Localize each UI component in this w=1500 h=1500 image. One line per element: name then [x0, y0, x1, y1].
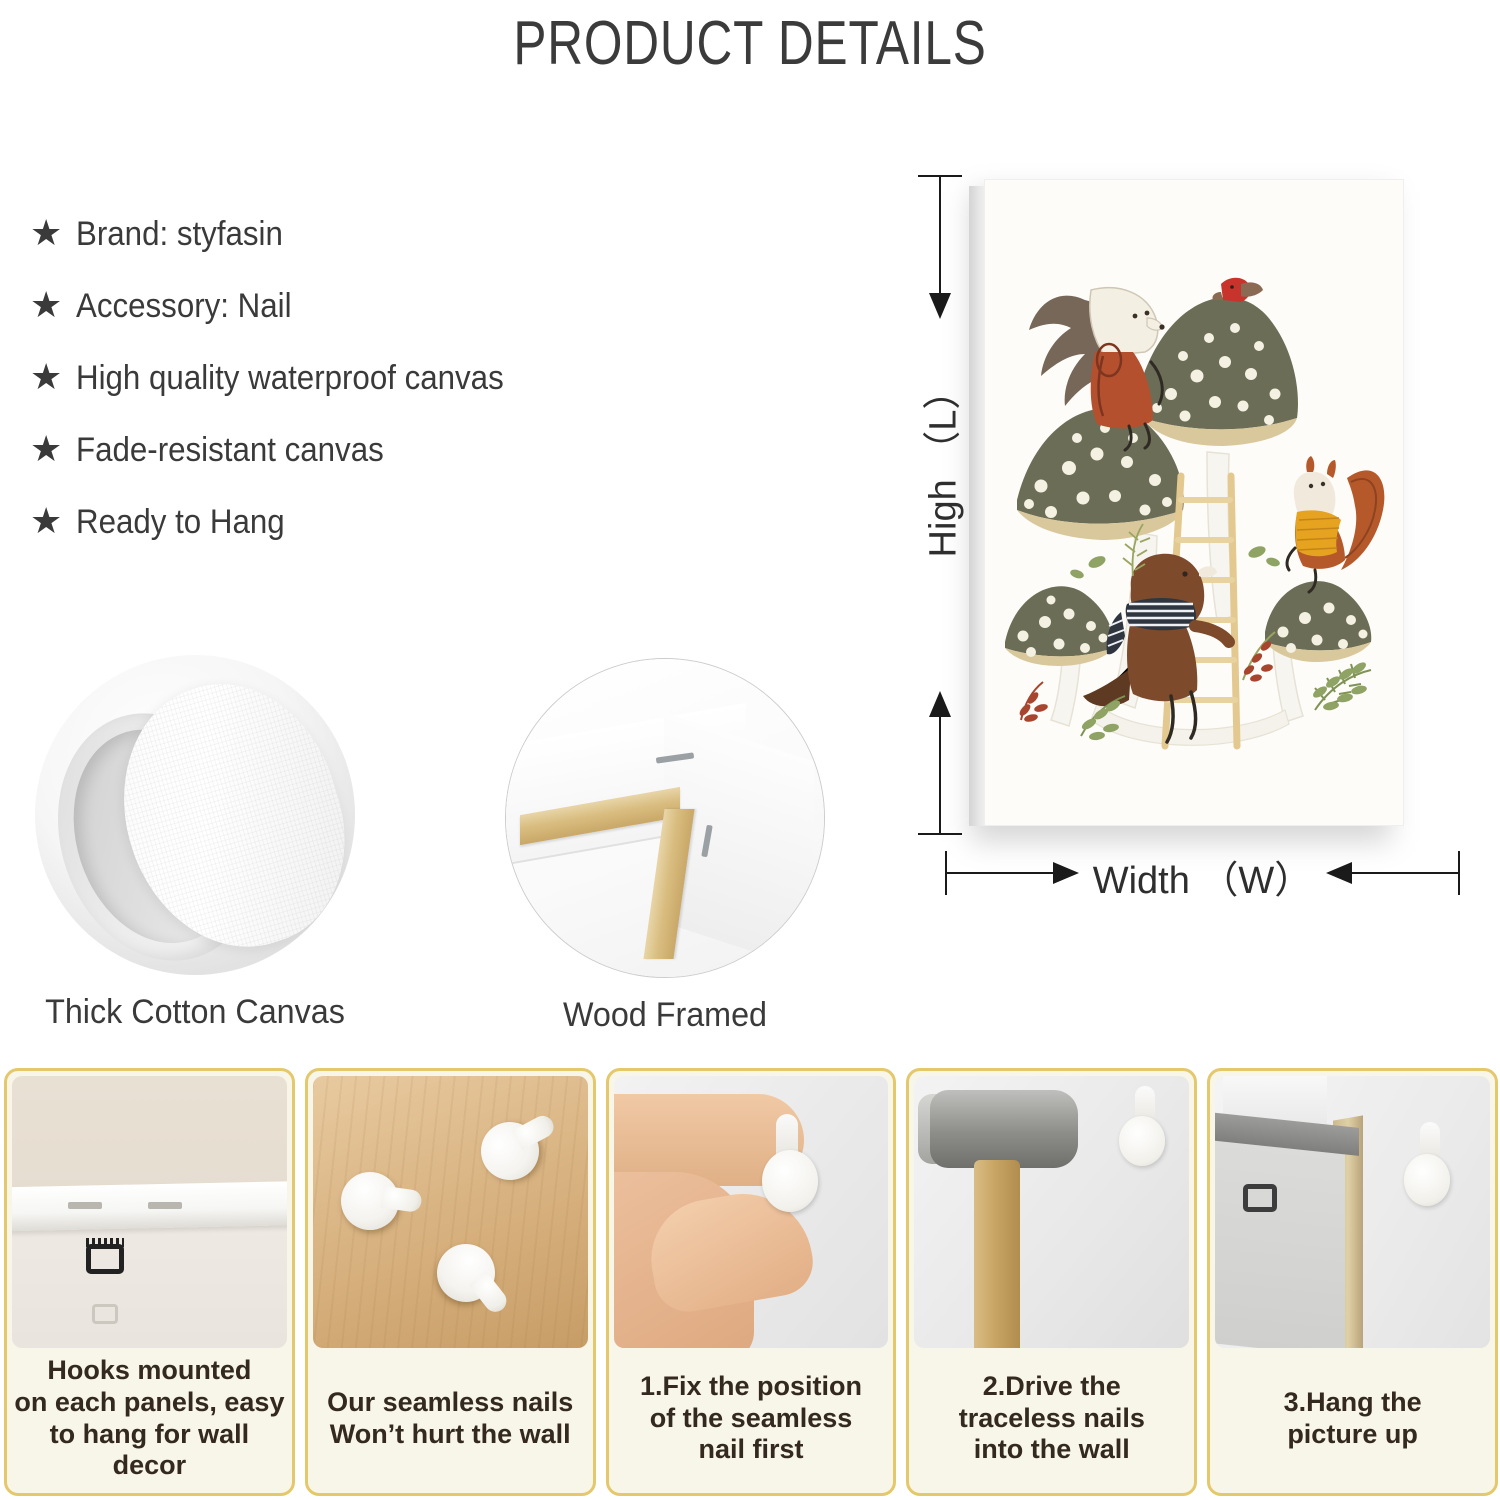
hammer-head-icon — [930, 1090, 1078, 1168]
feature-label: Accessory: Nail — [76, 287, 292, 326]
staple-icon — [68, 1202, 102, 1209]
feature-item-brand: ★ Brand: styfasin — [30, 215, 650, 259]
step-caption: 3.Hang the picture up — [1210, 1348, 1495, 1493]
step-caption: Our seamless nails Won’t hurt the wall — [308, 1348, 593, 1493]
star-icon: ★ — [30, 431, 76, 467]
woodland-animals-artwork — [985, 180, 1403, 825]
feature-item-accessory: ★ Accessory: Nail — [30, 287, 650, 331]
detail-circle-caption: Wood Framed — [513, 996, 817, 1035]
step-caption: 1.Fix the position of the seamless nail … — [609, 1348, 894, 1493]
step-caption: Hooks mounted on each panels, easy to ha… — [7, 1348, 292, 1493]
width-dimension-label: Width （W） — [945, 849, 1460, 904]
hanging-picture-photo — [1215, 1076, 1490, 1348]
height-dimension-guide: High （L） — [912, 175, 972, 835]
height-cap-bottom — [918, 833, 962, 835]
detail-circle-frame: Wood Framed — [505, 658, 825, 1035]
seamless-nails-on-wood-photo — [313, 1076, 588, 1348]
feature-list: ★ Brand: styfasin ★ Accessory: Nail ★ Hi… — [30, 215, 650, 575]
feature-item-ready-to-hang: ★ Ready to Hang — [30, 503, 650, 547]
hand-placing-nail-photo — [614, 1076, 889, 1348]
canvas-frame-back — [1215, 1123, 1345, 1348]
step-card-hang-picture: 3.Hang the picture up — [1207, 1068, 1498, 1496]
seamless-nail-icon — [762, 1150, 818, 1212]
sawtooth-hanger-icon — [86, 1244, 124, 1274]
height-dimension-label: High （L） — [912, 350, 967, 580]
sawtooth-hanger-icon — [1243, 1184, 1277, 1212]
hanger-slot-icon — [92, 1304, 118, 1324]
height-stem-bottom — [939, 713, 941, 835]
hammer-handle-icon — [974, 1160, 1020, 1348]
feature-label: Fade-resistant canvas — [76, 431, 384, 470]
page-title: PRODUCT DETAILS — [150, 8, 1350, 79]
step-card-hooks: Hooks mounted on each panels, easy to ha… — [4, 1068, 295, 1496]
detail-circle-canvas: Thick Cotton Canvas — [35, 655, 355, 1032]
feature-item-fade-resistant: ★ Fade-resistant canvas — [30, 431, 650, 475]
feature-item-waterproof: ★ High quality waterproof canvas — [30, 359, 650, 403]
step-card-fix-position: 1.Fix the position of the seamless nail … — [606, 1068, 897, 1496]
step-card-seamless-nails: Our seamless nails Won’t hurt the wall — [305, 1068, 596, 1496]
star-icon: ★ — [30, 287, 76, 323]
feature-label: High quality waterproof canvas — [76, 359, 504, 398]
step-card-drive-nails: 2.Drive the traceless nails into the wal… — [906, 1068, 1197, 1496]
seamless-nail-icon — [1119, 1116, 1165, 1166]
seamless-nail-icon — [1404, 1154, 1450, 1206]
rolled-canvas-photo — [35, 655, 355, 975]
star-icon: ★ — [30, 359, 76, 395]
canvas-artwork-face — [985, 180, 1403, 825]
seamless-nail-icon — [471, 1112, 549, 1190]
feature-label: Brand: styfasin — [76, 215, 283, 254]
height-stem-top — [939, 175, 941, 297]
hammer-driving-nail-photo — [914, 1076, 1189, 1348]
feature-label: Ready to Hang — [76, 503, 285, 542]
frame-corner-photo — [505, 658, 825, 978]
installation-steps: Hooks mounted on each panels, easy to ha… — [4, 1068, 1498, 1496]
star-icon: ★ — [30, 215, 76, 251]
canvas-back-hanger-photo — [12, 1076, 287, 1348]
star-icon: ★ — [30, 503, 76, 539]
seamless-nail-icon — [337, 1168, 403, 1234]
staple-icon — [148, 1202, 182, 1209]
width-dimension-guide: Width （W） — [945, 845, 1460, 901]
seamless-nail-icon — [425, 1232, 506, 1313]
arrow-down-icon — [929, 293, 951, 319]
step-caption: 2.Drive the traceless nails into the wal… — [909, 1348, 1194, 1493]
detail-circle-caption: Thick Cotton Canvas — [43, 993, 347, 1032]
canvas-product-mockup — [985, 180, 1403, 825]
